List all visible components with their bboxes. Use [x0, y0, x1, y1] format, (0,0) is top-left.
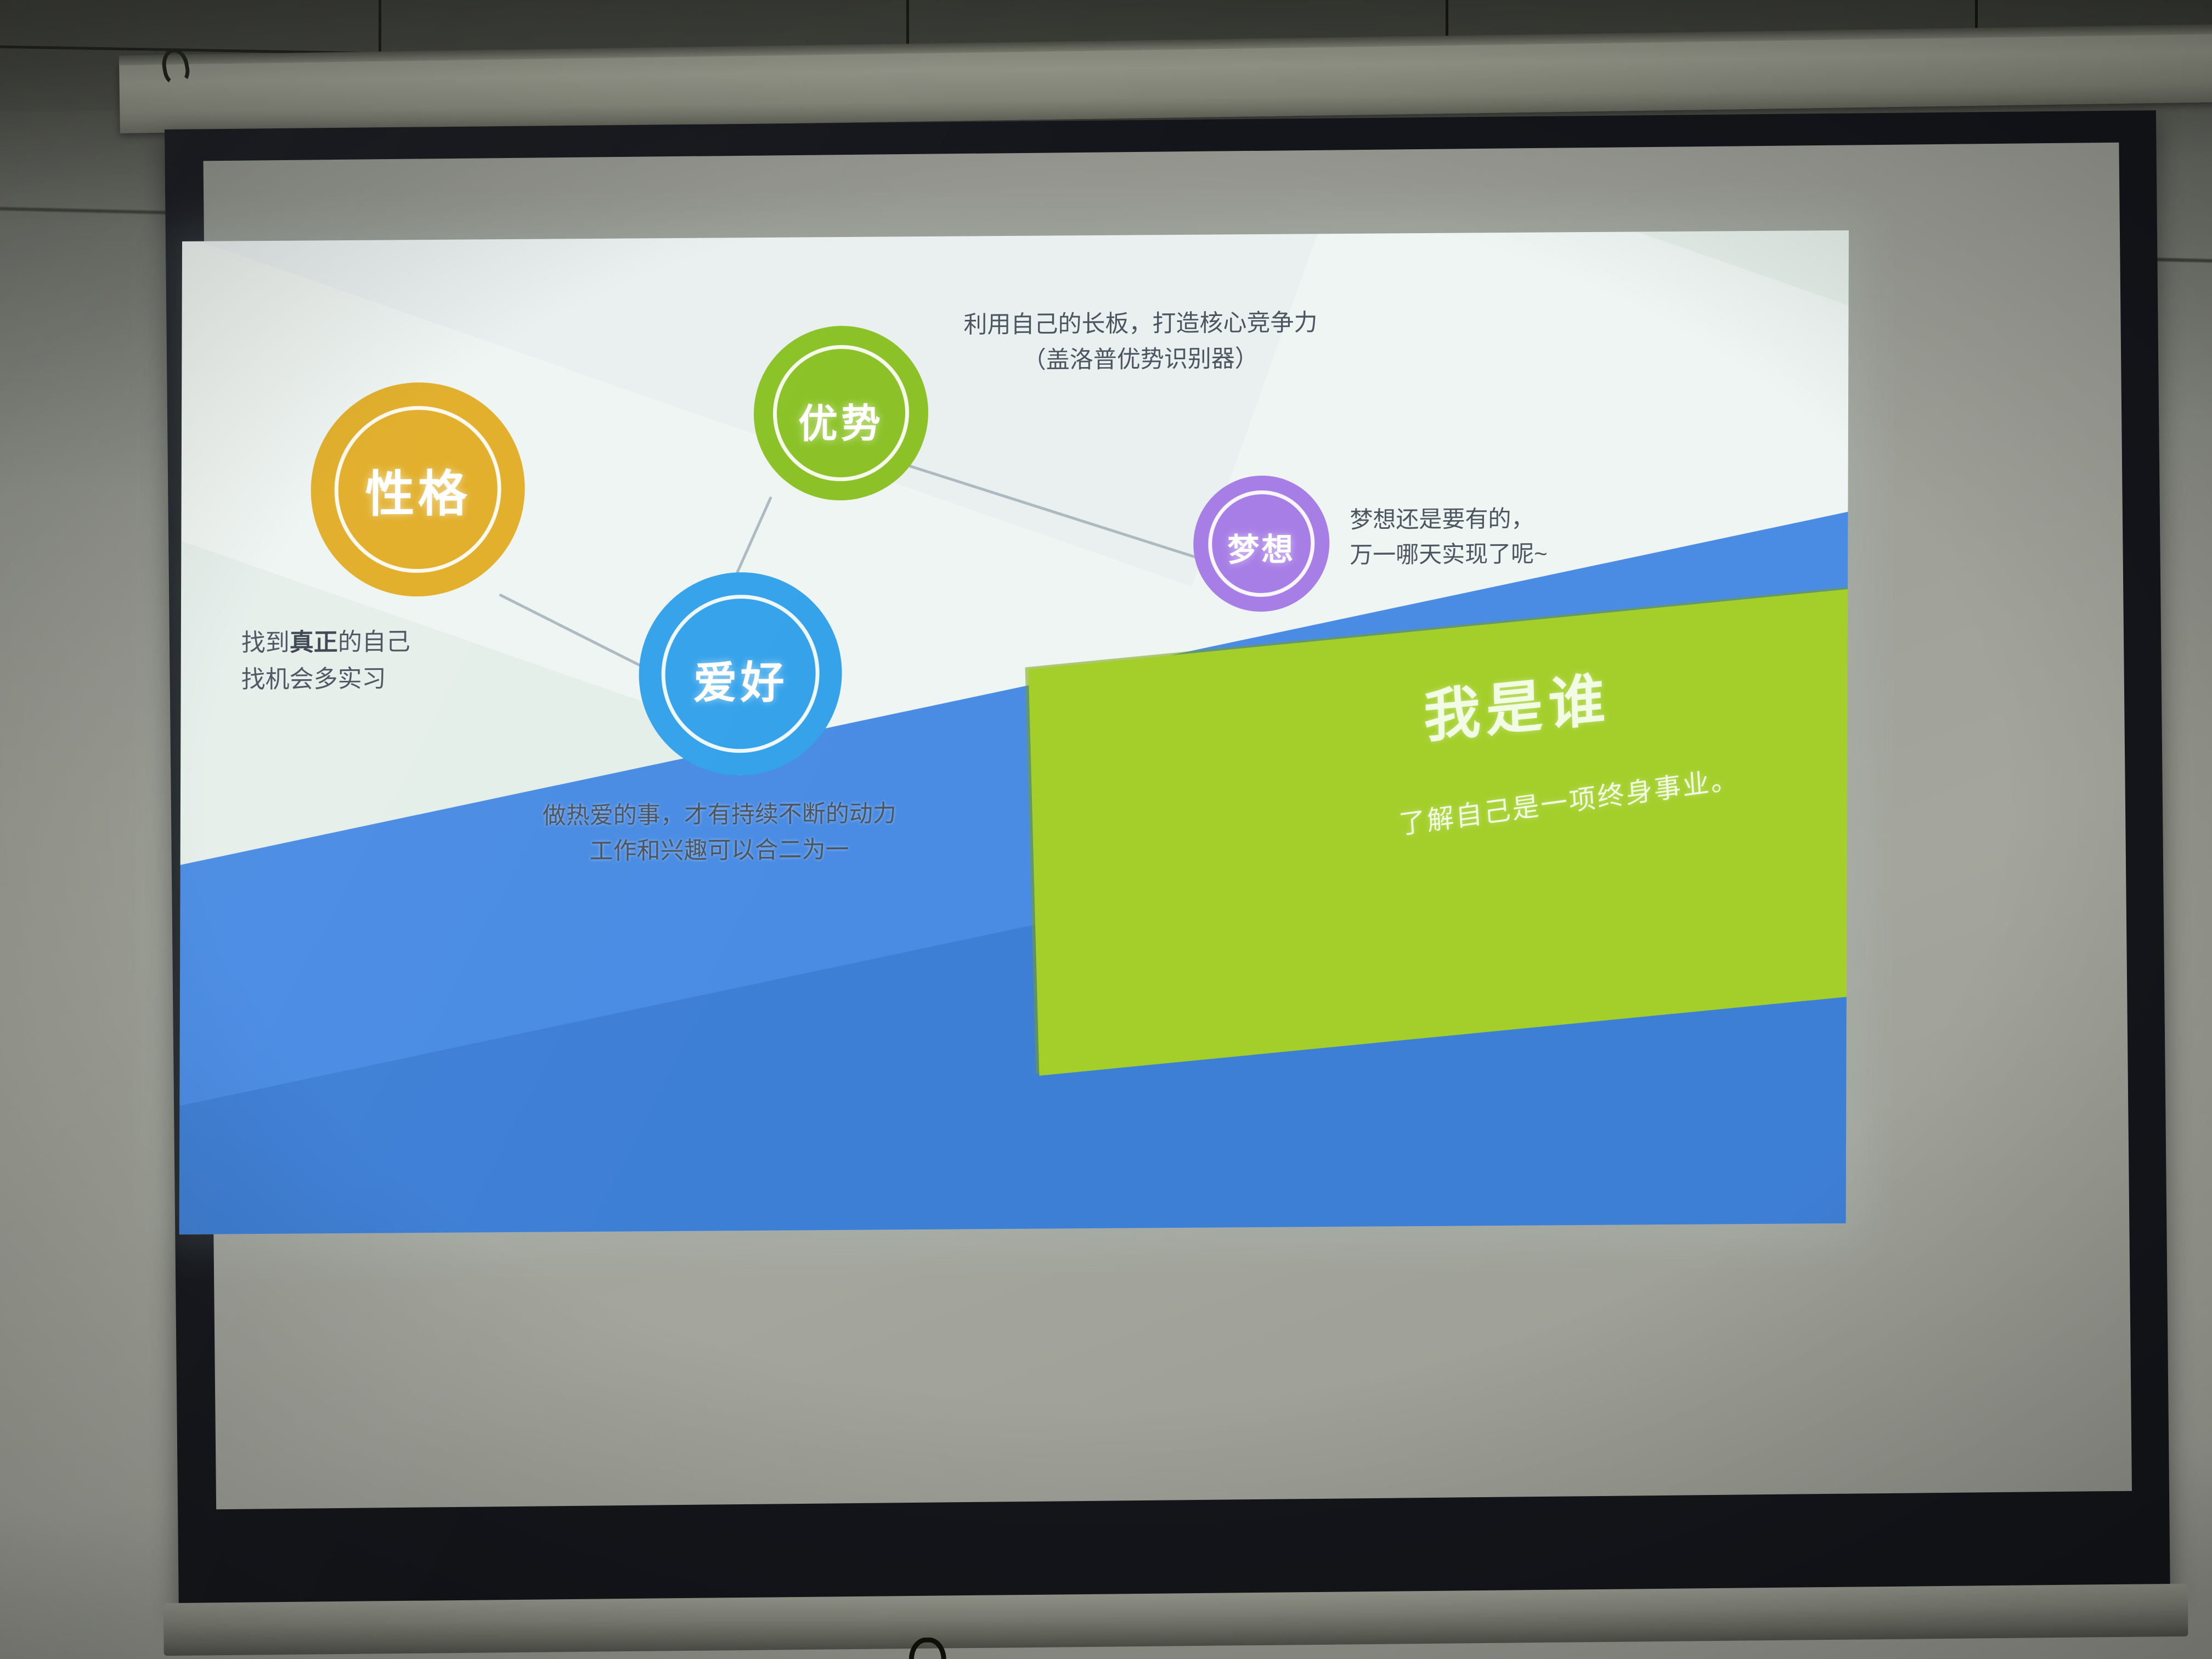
- node-label: 性格: [365, 454, 470, 526]
- node-youshi[interactable]: 优势: [754, 325, 929, 501]
- caption-line: 梦想还是要有的，: [1350, 501, 1548, 538]
- node-mengxiang[interactable]: 梦想: [1193, 475, 1330, 612]
- photo-canvas: 我是谁 了解自己是一项终身事业。 性格 优势 爱好 梦想: [0, 0, 2212, 1659]
- caption-line: （盖洛普优势识别器）: [963, 341, 1317, 380]
- node-label: 优势: [798, 391, 884, 449]
- caption-youshi: 利用自己的长板，打造核心竞争力 （盖洛普优势识别器）: [963, 305, 1317, 379]
- caption-mengxiang: 梦想还是要有的， 万一哪天实现了呢~: [1350, 501, 1548, 573]
- projected-slide: 我是谁 了解自己是一项终身事业。 性格 优势 爱好 梦想: [179, 230, 1849, 1234]
- caption-line: 做热爱的事，才有持续不断的动力: [543, 796, 896, 834]
- node-xingge[interactable]: 性格: [311, 382, 525, 597]
- caption-line: 找机会多实习: [241, 661, 410, 698]
- node-aihao[interactable]: 爱好: [639, 572, 842, 776]
- caption-line: 利用自己的长板，打造核心竞争力: [963, 305, 1317, 343]
- caption-line: 万一哪天实现了呢~: [1350, 536, 1548, 572]
- node-label: 爱好: [693, 647, 787, 712]
- caption-xingge: 找到真正的自己 找机会多实习: [241, 624, 410, 698]
- node-label: 梦想: [1227, 524, 1295, 571]
- caption-line: 工作和兴趣可以合二为一: [543, 832, 896, 871]
- caption-aihao: 做热爱的事，才有持续不断的动力 工作和兴趣可以合二为一: [543, 796, 896, 870]
- caption-line: 找到真正的自己: [241, 624, 410, 662]
